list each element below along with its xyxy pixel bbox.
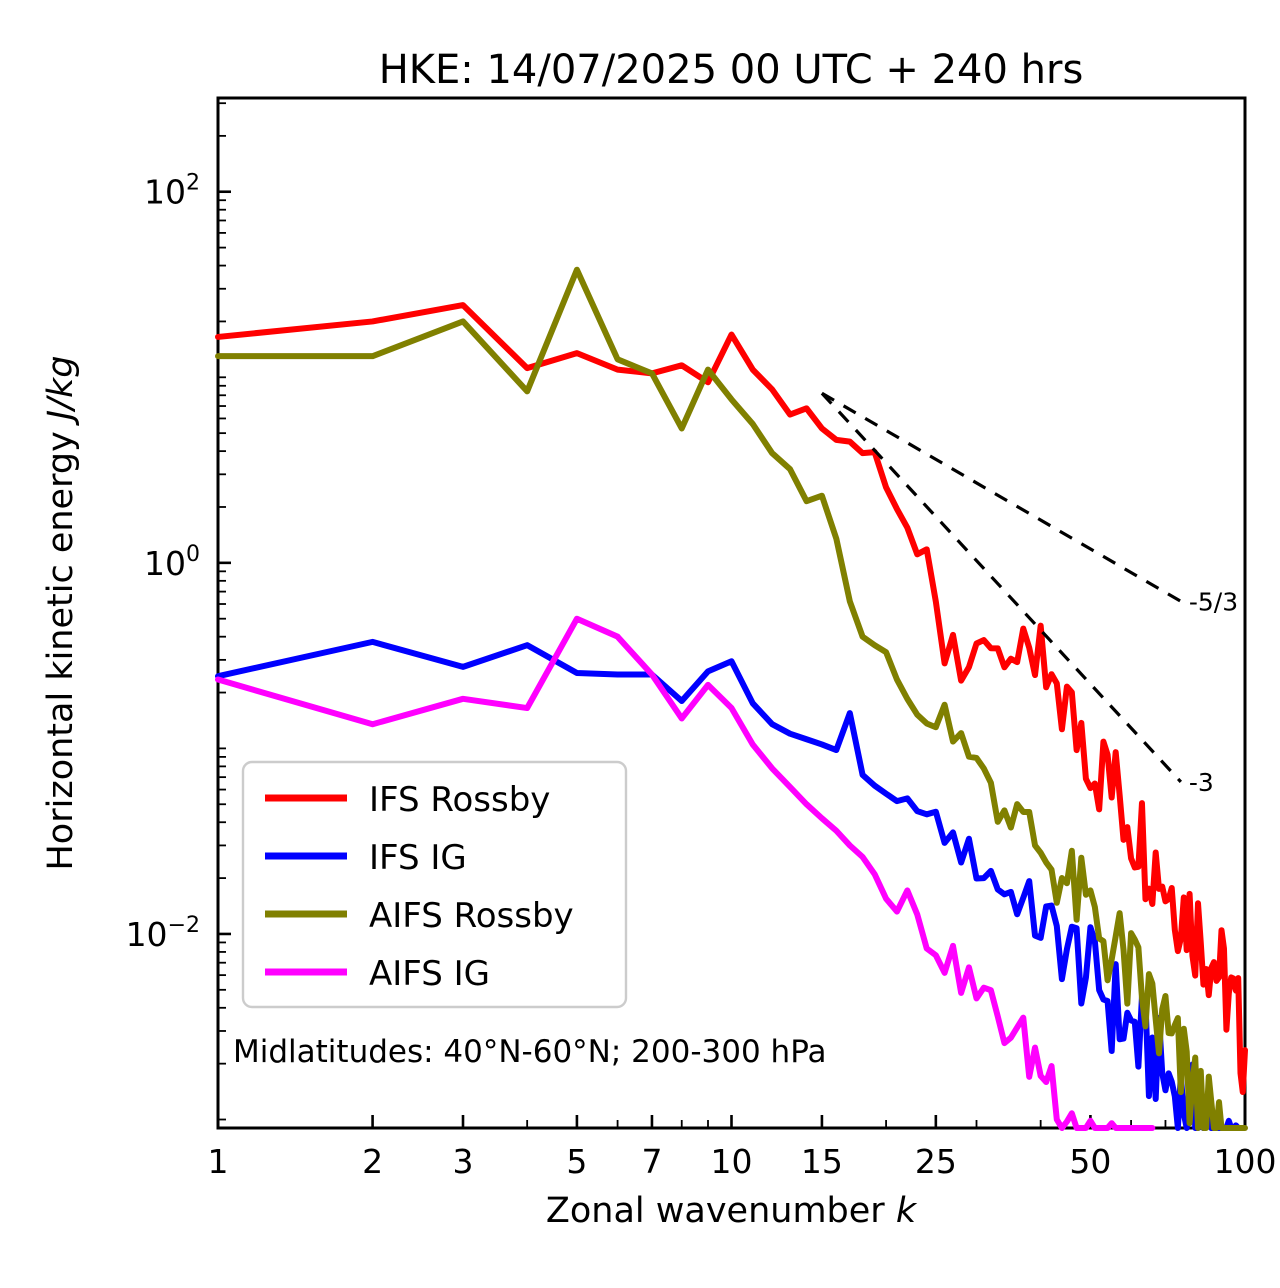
x-tick-label: 7 bbox=[641, 1142, 662, 1181]
x-tick-label: 3 bbox=[453, 1142, 474, 1181]
x-tick-label: 100 bbox=[1214, 1142, 1277, 1181]
slope-label--3: -3 bbox=[1189, 768, 1214, 797]
x-tick-label: 2 bbox=[362, 1142, 383, 1181]
x-tick-label: 1 bbox=[208, 1142, 229, 1181]
legend-label-aifs-rossby[interactable]: AIFS Rossby bbox=[369, 896, 574, 936]
x-tick-label: 50 bbox=[1069, 1142, 1111, 1181]
figure-root: HKE: 14/07/2025 00 UTC + 240 hrs 1235710… bbox=[0, 0, 1280, 1288]
x-axis-label: Zonal wavenumber k bbox=[546, 1191, 918, 1231]
legend[interactable]: IFS RossbyIFS IGAIFS RossbyAIFS IG bbox=[243, 762, 626, 1007]
x-tick-label: 15 bbox=[801, 1142, 843, 1181]
hke-spectrum-chart: HKE: 14/07/2025 00 UTC + 240 hrs 1235710… bbox=[0, 0, 1280, 1288]
region-annotation: Midlatitudes: 40°N-60°N; 200-300 hPa bbox=[233, 1034, 827, 1070]
y-axis-label: Horizontal kinetic energy J/kg bbox=[41, 355, 81, 870]
legend-label-ifs-ig[interactable]: IFS IG bbox=[369, 838, 467, 878]
legend-label-aifs-ig[interactable]: AIFS IG bbox=[369, 954, 490, 994]
x-tick-label: 5 bbox=[566, 1142, 587, 1181]
legend-label-ifs-rossby[interactable]: IFS Rossby bbox=[369, 780, 550, 820]
x-tick-label: 10 bbox=[711, 1142, 753, 1181]
slope-label--5-3: -5/3 bbox=[1189, 587, 1238, 616]
x-tick-label: 25 bbox=[915, 1142, 957, 1181]
chart-title: HKE: 14/07/2025 00 UTC + 240 hrs bbox=[379, 47, 1084, 93]
